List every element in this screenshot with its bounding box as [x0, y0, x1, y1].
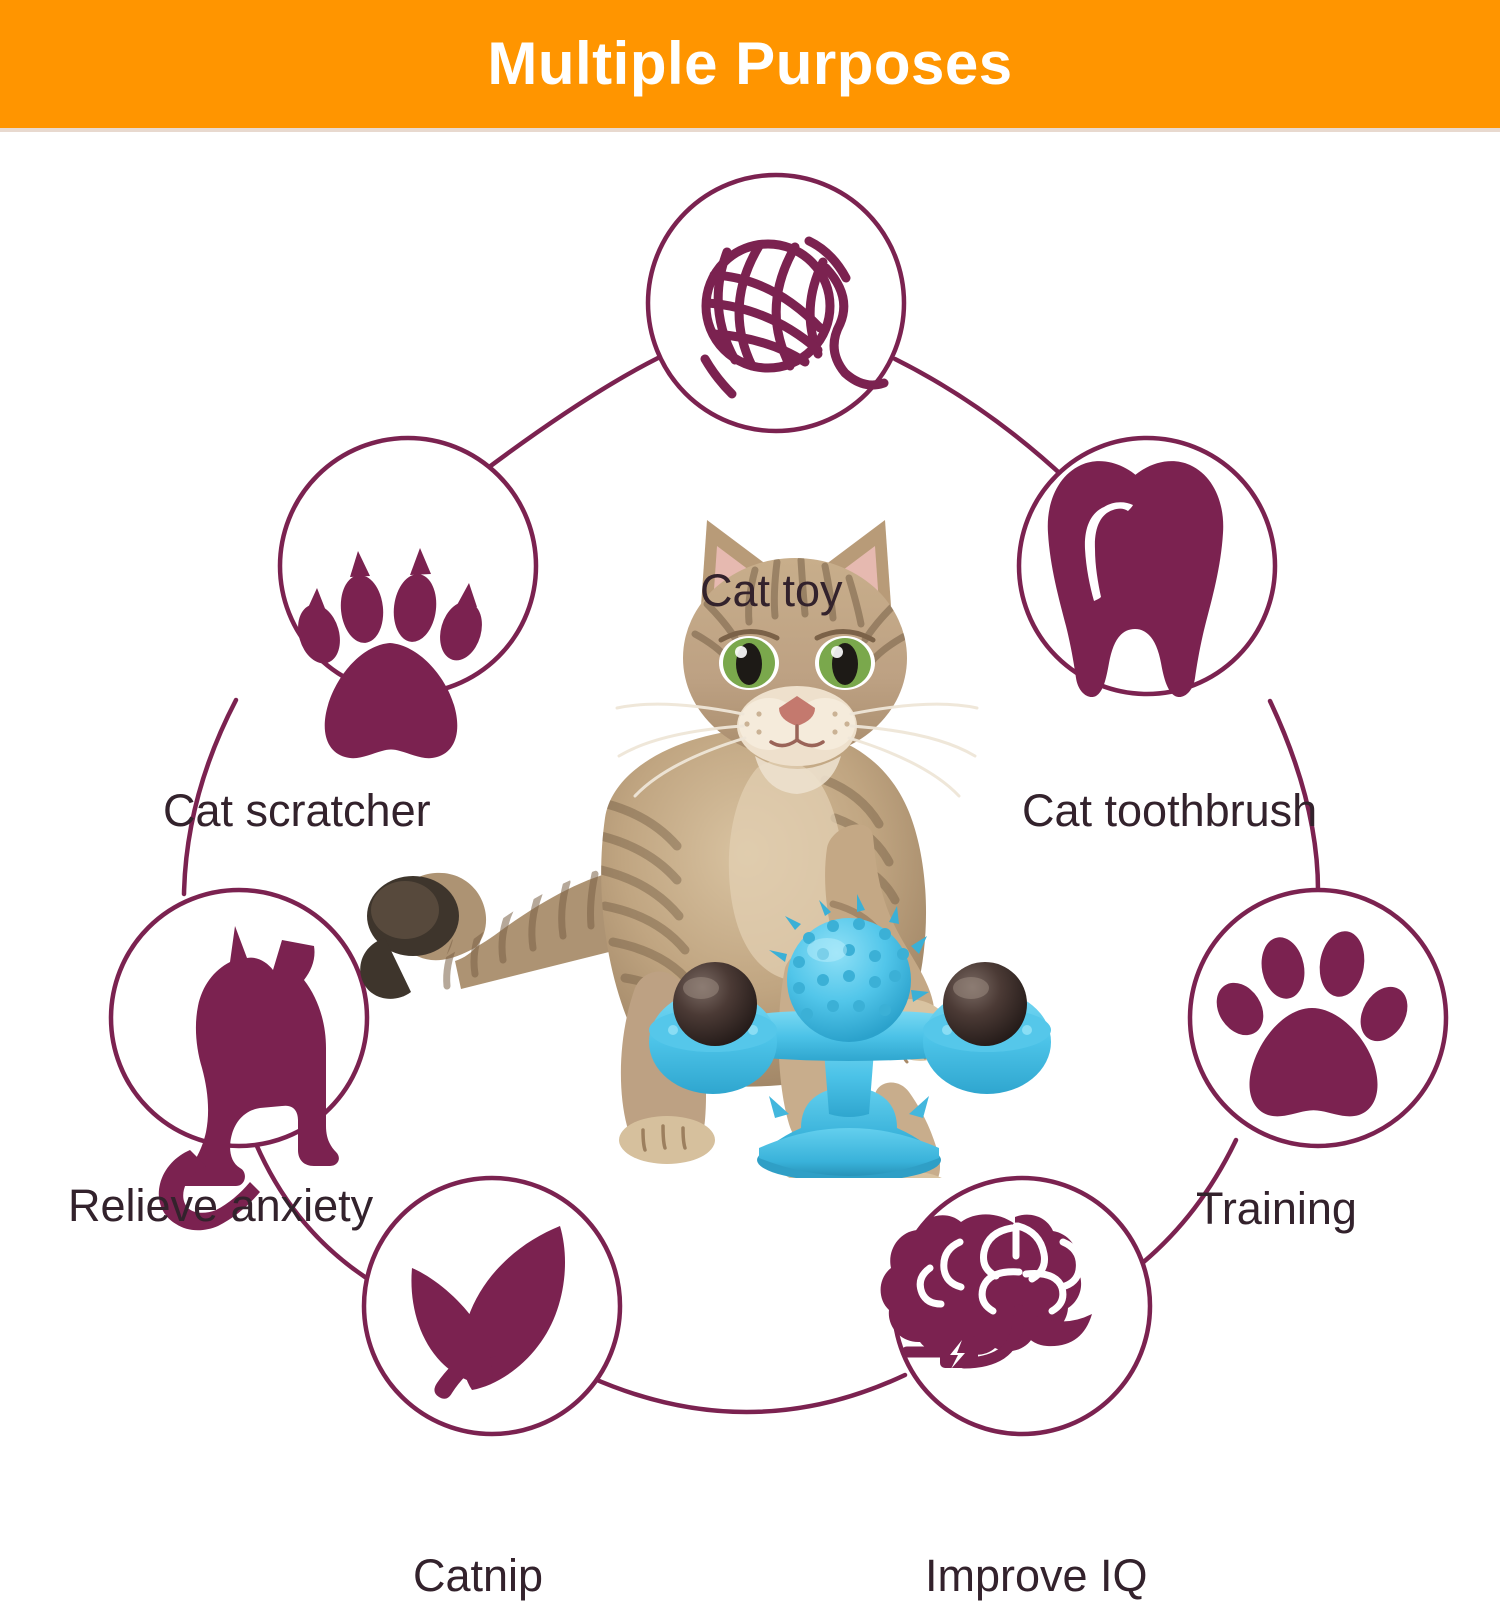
node-training[interactable] — [1190, 890, 1446, 1146]
diagram-stage: Cat toy Cat toothbrush Training Improve … — [0, 128, 1500, 1500]
label-cat-toothbrush: Cat toothbrush — [1022, 788, 1317, 833]
node-improve-iq[interactable] — [881, 1178, 1150, 1434]
label-relieve-anxiety: Relieve anxiety — [68, 1183, 373, 1228]
cat-tail — [360, 870, 629, 999]
label-catnip: Catnip — [413, 1553, 543, 1598]
node-catnip[interactable] — [364, 1178, 620, 1434]
infographic-page: Multiple Purposes — [0, 0, 1500, 1500]
label-cat-toy: Cat toy — [700, 568, 843, 613]
label-cat-scratcher: Cat scratcher — [163, 788, 431, 833]
product-photo — [355, 518, 1145, 1178]
header-banner: Multiple Purposes — [0, 0, 1500, 128]
label-improve-iq: Improve IQ — [925, 1553, 1148, 1598]
label-training: Training — [1196, 1186, 1357, 1231]
node-cat-toy[interactable] — [648, 175, 904, 431]
page-title: Multiple Purposes — [487, 34, 1012, 94]
